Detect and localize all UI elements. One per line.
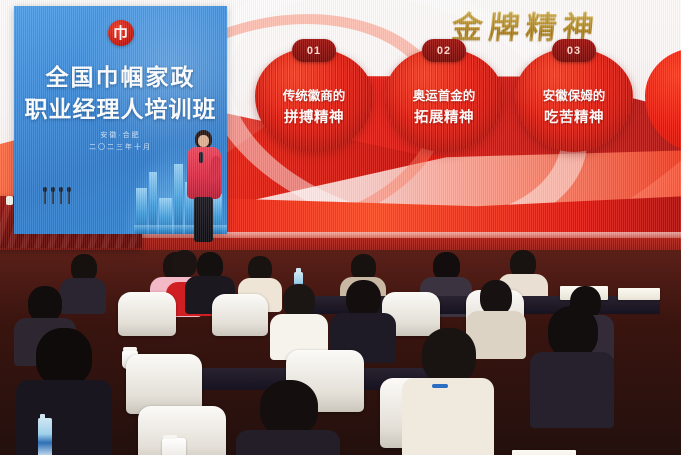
banner-title-line2: 职业经理人培训班	[14, 90, 227, 124]
presenter-trousers	[194, 197, 213, 242]
table-microphone-3	[60, 190, 62, 204]
tea-cup	[162, 438, 186, 455]
audience-area	[0, 250, 681, 455]
conference-photo-scene: 金牌精神 01 传统徽商的 拼搏精神 02 奥运首金的 拓展精神 03 安徽保姆…	[0, 0, 681, 455]
oval-card-03: 03 安徽保姆的 吃苦精神	[515, 48, 633, 152]
attendee	[530, 306, 614, 426]
attendee	[270, 284, 328, 358]
presenter	[186, 130, 222, 242]
attendee	[16, 328, 112, 455]
table-microphone-2	[52, 190, 54, 204]
emblem-glyph: 巾	[113, 26, 128, 41]
card-02-line1: 奥运首金的	[413, 89, 476, 105]
head-table-cup	[6, 196, 13, 205]
audience-chair	[212, 294, 268, 336]
card-01-line1: 传统徽商的	[283, 89, 346, 105]
oval-card-group: 01 传统徽商的 拼搏精神 02 奥运首金的 拓展精神 03 安徽保姆的 吃苦精…	[255, 48, 633, 152]
attendee	[402, 328, 494, 455]
table-microphone-1	[44, 190, 46, 204]
paper-handout	[618, 288, 660, 300]
card-02-line2: 拓展精神	[414, 109, 474, 127]
audience-chair	[126, 354, 202, 414]
card-badge-01: 01	[292, 39, 336, 62]
womens-federation-emblem-icon: 巾	[108, 20, 134, 46]
lanyard-badge	[432, 384, 448, 388]
oval-card-02: 02 奥运首金的 拓展精神	[385, 48, 503, 152]
card-03-line1: 安徽保姆的	[543, 89, 606, 105]
paper-handout	[512, 450, 576, 455]
banner-title-line1: 全国巾帼家政	[14, 58, 227, 92]
attendee	[330, 280, 396, 360]
table-microphone-4	[68, 190, 70, 204]
card-badge-03: 03	[552, 39, 596, 62]
oval-card-01: 01 传统徽商的 拼搏精神	[255, 48, 373, 152]
card-01-line2: 拼搏精神	[284, 109, 344, 127]
handheld-microphone-icon	[199, 152, 203, 163]
water-bottle	[38, 418, 52, 455]
audience-chair	[118, 292, 176, 336]
card-badge-02: 02	[422, 39, 466, 62]
attendee	[236, 380, 340, 455]
card-03-line2: 吃苦精神	[544, 109, 604, 127]
presenter-face	[198, 135, 209, 147]
